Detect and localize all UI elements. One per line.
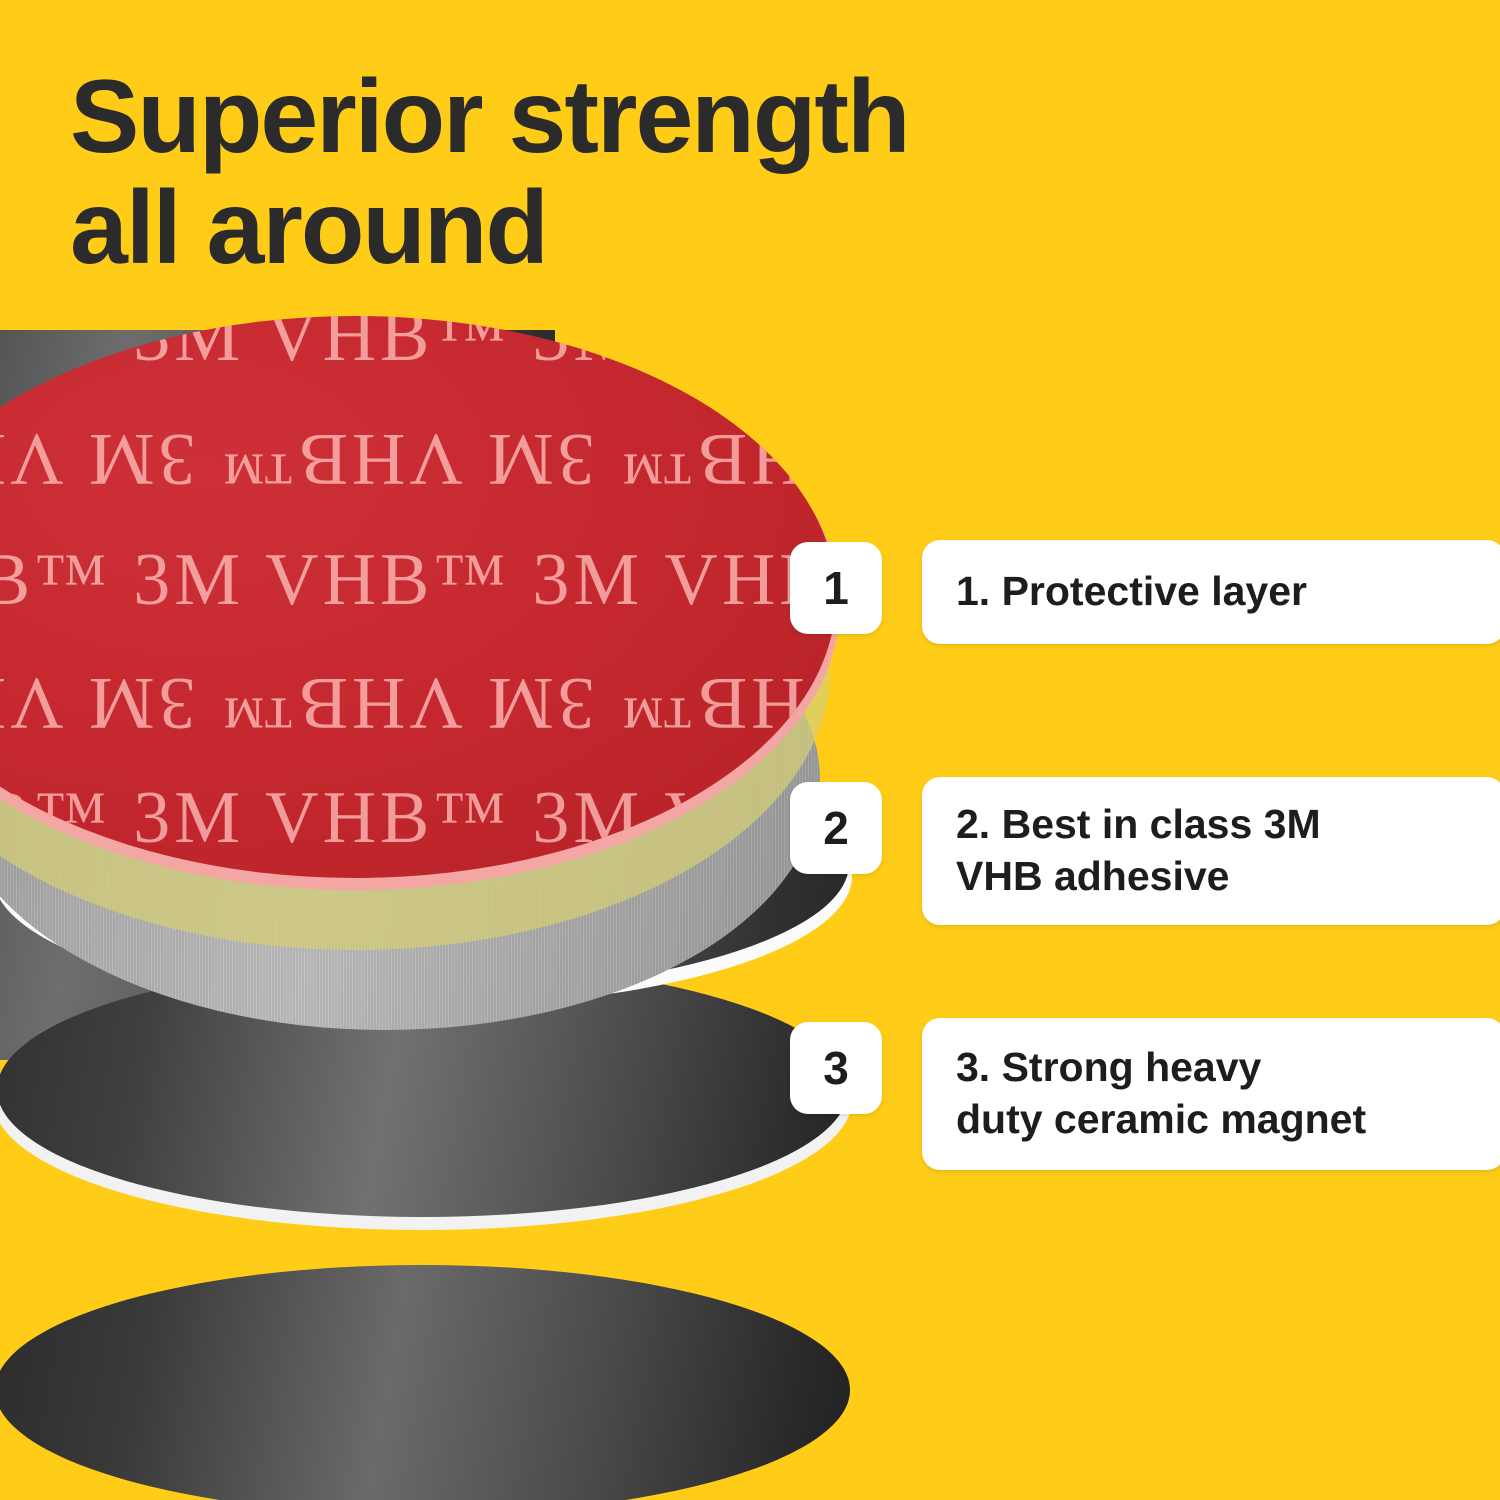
callout-card-1: 1. Protective layer	[922, 540, 1500, 644]
magnet-lower-bottom-face	[0, 1265, 850, 1500]
liner-print-row: 3M VHB™ 3M VHB™ 3M VHB™	[0, 316, 836, 379]
callout-card-2: 2. Best in class 3M VHB adhesive	[922, 777, 1500, 925]
product-layer-stack-illustration: 3M VHB™ 3M VHB™ 3M VHB™ 3M VHB™ 3M VHB™ …	[0, 330, 860, 1500]
callout-badge-1: 1	[790, 542, 882, 634]
liner-print-row: 3M VHB™ 3M VHB™ 3M VHB™	[0, 538, 836, 623]
liner-print-row: 3M VHB™ 3M VHB™ 3M VHB™	[0, 660, 836, 745]
callout-badge-2: 2	[790, 782, 882, 874]
liner-print-row: 3M VHB™ 3M VHB™ 3M VHB™	[0, 776, 836, 861]
infographic-canvas: Superior strength all around 3M VHB™ 3M …	[0, 0, 1500, 1500]
protective-liner-disc: 3M VHB™ 3M VHB™ 3M VHB™ 3M VHB™ 3M VHB™ …	[0, 316, 836, 878]
page-title: Superior strength all around	[70, 62, 1070, 285]
callout-badge-3: 3	[790, 1022, 882, 1114]
callout-card-3: 3. Strong heavy duty ceramic magnet	[922, 1018, 1500, 1170]
liner-print-row: 3M VHB™ 3M VHB™ 3M VHB™	[0, 416, 836, 501]
vhb-liner-branding-print: 3M VHB™ 3M VHB™ 3M VHB™ 3M VHB™ 3M VHB™ …	[0, 316, 836, 878]
